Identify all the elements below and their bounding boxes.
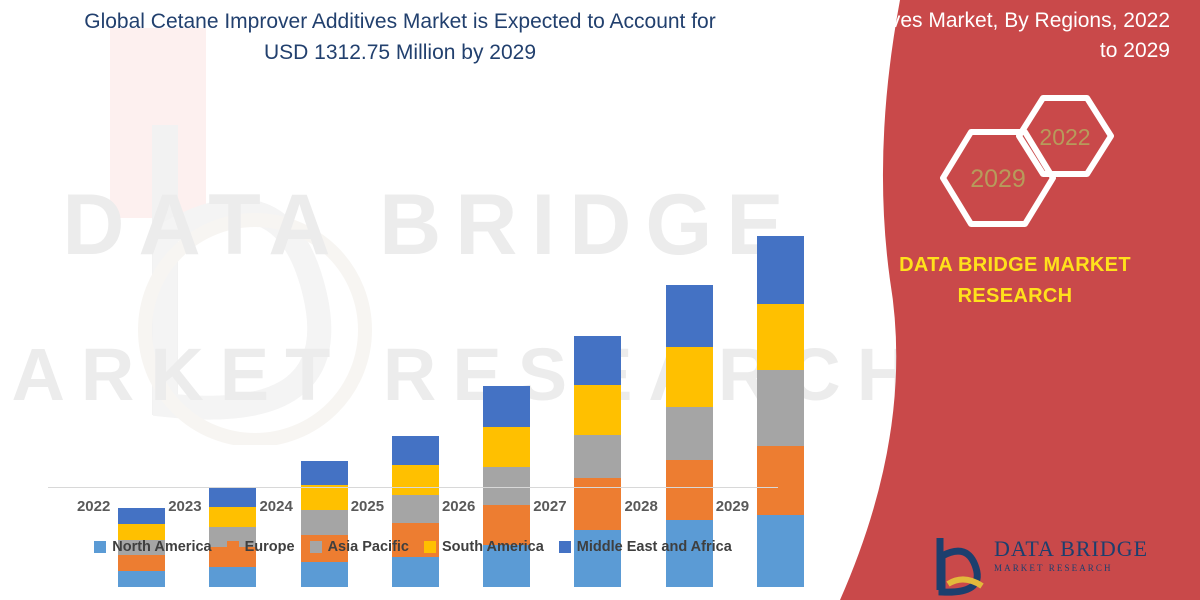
- data-bridge-logo: DATA BRIDGE MARKET RESEARCH: [932, 530, 1192, 600]
- x-axis-label: 2028: [596, 498, 687, 515]
- bar-segment[interactable]: [666, 407, 713, 460]
- hexagon-badges: 2022 2029: [935, 92, 1125, 232]
- legend-label: Asia Pacific: [328, 539, 409, 555]
- bar-segment[interactable]: [574, 385, 621, 435]
- chart-title: Global Cetane Improver Additives Market …: [60, 6, 740, 68]
- logo-subtitle: MARKET RESEARCH: [994, 563, 1113, 573]
- bar-segment[interactable]: [666, 285, 713, 347]
- x-axis-label: 2022: [48, 498, 139, 515]
- legend-label: Europe: [245, 539, 295, 555]
- bar-slot: [370, 200, 461, 587]
- legend-label: Middle East and Africa: [577, 539, 732, 555]
- legend-item[interactable]: Middle East and Africa: [559, 539, 732, 555]
- bar-segment[interactable]: [209, 567, 256, 587]
- bar-segment[interactable]: [118, 555, 165, 571]
- legend-item[interactable]: Asia Pacific: [310, 539, 409, 555]
- bar-segment[interactable]: [392, 557, 439, 587]
- svg-text:2022: 2022: [1039, 124, 1090, 150]
- x-axis-label: 2023: [139, 498, 230, 515]
- bar-slot: [644, 200, 735, 587]
- bar-slot: [279, 200, 370, 587]
- bar-segment[interactable]: [392, 465, 439, 495]
- bar-segment[interactable]: [483, 427, 530, 467]
- legend-item[interactable]: North America: [94, 539, 211, 555]
- legend-swatch: [227, 541, 239, 553]
- bar-segment[interactable]: [301, 562, 348, 587]
- legend-swatch: [310, 541, 322, 553]
- bar-segment[interactable]: [392, 436, 439, 465]
- brand-text: DATA BRIDGE MARKET RESEARCH: [850, 250, 1180, 312]
- legend-swatch: [559, 541, 571, 553]
- infographic-canvas: DATA BRIDGE MARKET RESEARCH Global Cetan…: [0, 0, 1200, 600]
- x-axis-label: 2026: [413, 498, 504, 515]
- bar-segment[interactable]: [301, 461, 348, 485]
- x-axis-line: [48, 487, 778, 488]
- bar-segment[interactable]: [574, 336, 621, 385]
- x-axis-tick-labels: 20222023202420252026202720282029: [48, 498, 778, 515]
- bar-segment[interactable]: [483, 386, 530, 427]
- chart-plot-area: [48, 100, 778, 488]
- svg-text:2029: 2029: [970, 165, 1026, 193]
- x-axis-label: 2029: [687, 498, 778, 515]
- bar-slot: [96, 200, 187, 587]
- bar-segment[interactable]: [574, 435, 621, 478]
- bar-segment[interactable]: [118, 571, 165, 587]
- bar-slot: [552, 200, 643, 587]
- bar-group: [96, 200, 826, 587]
- legend-item[interactable]: Europe: [227, 539, 295, 555]
- logo-title: DATA BRIDGE: [994, 536, 1148, 562]
- bar-slot: [461, 200, 552, 587]
- legend-item[interactable]: South America: [424, 539, 544, 555]
- legend-label: North America: [112, 539, 211, 555]
- legend-swatch: [424, 541, 436, 553]
- x-axis-label: 2027: [504, 498, 595, 515]
- stacked-bar[interactable]: [301, 461, 348, 587]
- legend-label: South America: [442, 539, 544, 555]
- x-axis-label: 2025: [322, 498, 413, 515]
- panel-title: Additives Market, By Regions, 2022 to 20…: [830, 6, 1170, 66]
- bar-segment[interactable]: [666, 347, 713, 407]
- legend-swatch: [94, 541, 106, 553]
- bar-slot: [187, 200, 278, 587]
- chart-legend: North AmericaEuropeAsia PacificSouth Ame…: [48, 539, 778, 555]
- right-panel-content: Additives Market, By Regions, 2022 to 20…: [780, 0, 1200, 600]
- bar-segment[interactable]: [118, 524, 165, 540]
- x-axis-label: 2024: [231, 498, 322, 515]
